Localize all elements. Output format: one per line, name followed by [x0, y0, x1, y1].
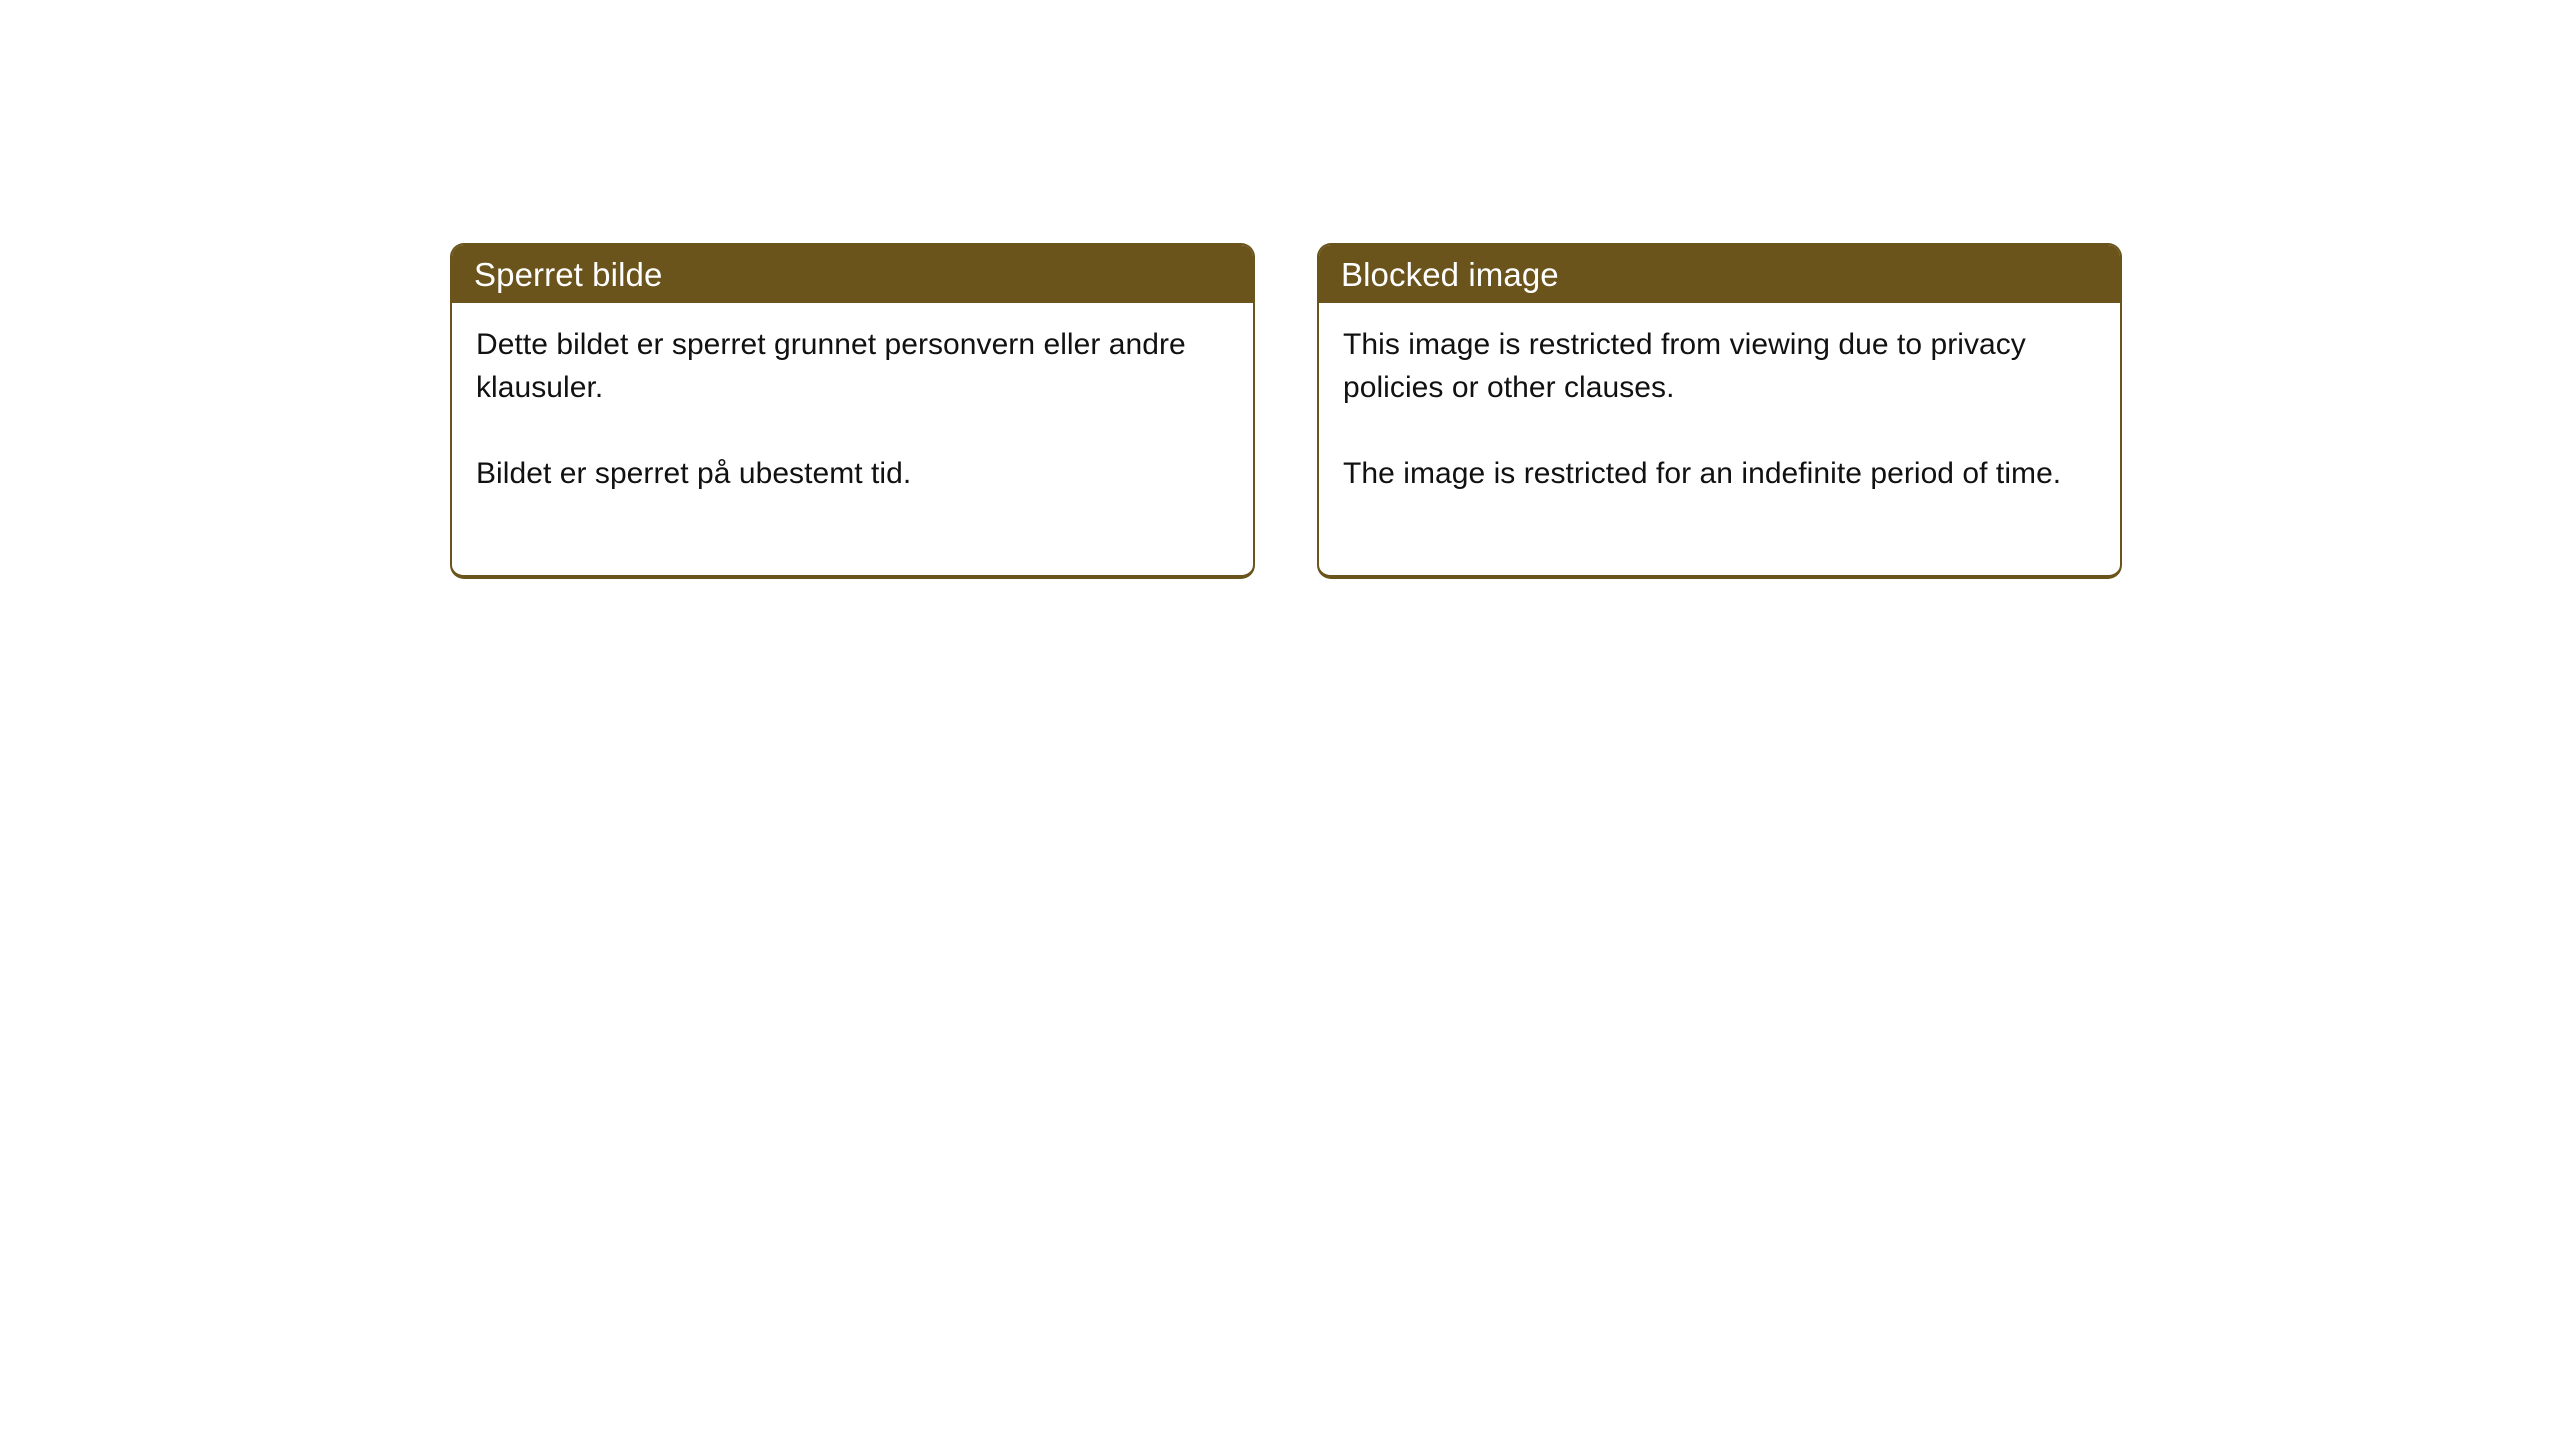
- notice-paragraph-no-1: Dette bildet er sperret grunnet personve…: [476, 323, 1229, 409]
- card-header-no: Sperret bilde: [452, 245, 1253, 303]
- blocked-image-notice-en: Blocked image This image is restricted f…: [1317, 243, 2122, 579]
- notice-paragraph-en-2: The image is restricted for an indefinit…: [1343, 452, 2096, 495]
- blocked-image-notice-no: Sperret bilde Dette bildet er sperret gr…: [450, 243, 1255, 579]
- card-title-no: Sperret bilde: [474, 258, 662, 291]
- card-body-en: This image is restricted from viewing du…: [1319, 303, 2120, 495]
- card-header-en: Blocked image: [1319, 245, 2120, 303]
- page-canvas: Sperret bilde Dette bildet er sperret gr…: [0, 0, 2560, 1440]
- notice-paragraph-en-1: This image is restricted from viewing du…: [1343, 323, 2096, 409]
- card-body-no: Dette bildet er sperret grunnet personve…: [452, 303, 1253, 495]
- notice-paragraph-no-2: Bildet er sperret på ubestemt tid.: [476, 452, 1229, 495]
- card-title-en: Blocked image: [1341, 258, 1559, 291]
